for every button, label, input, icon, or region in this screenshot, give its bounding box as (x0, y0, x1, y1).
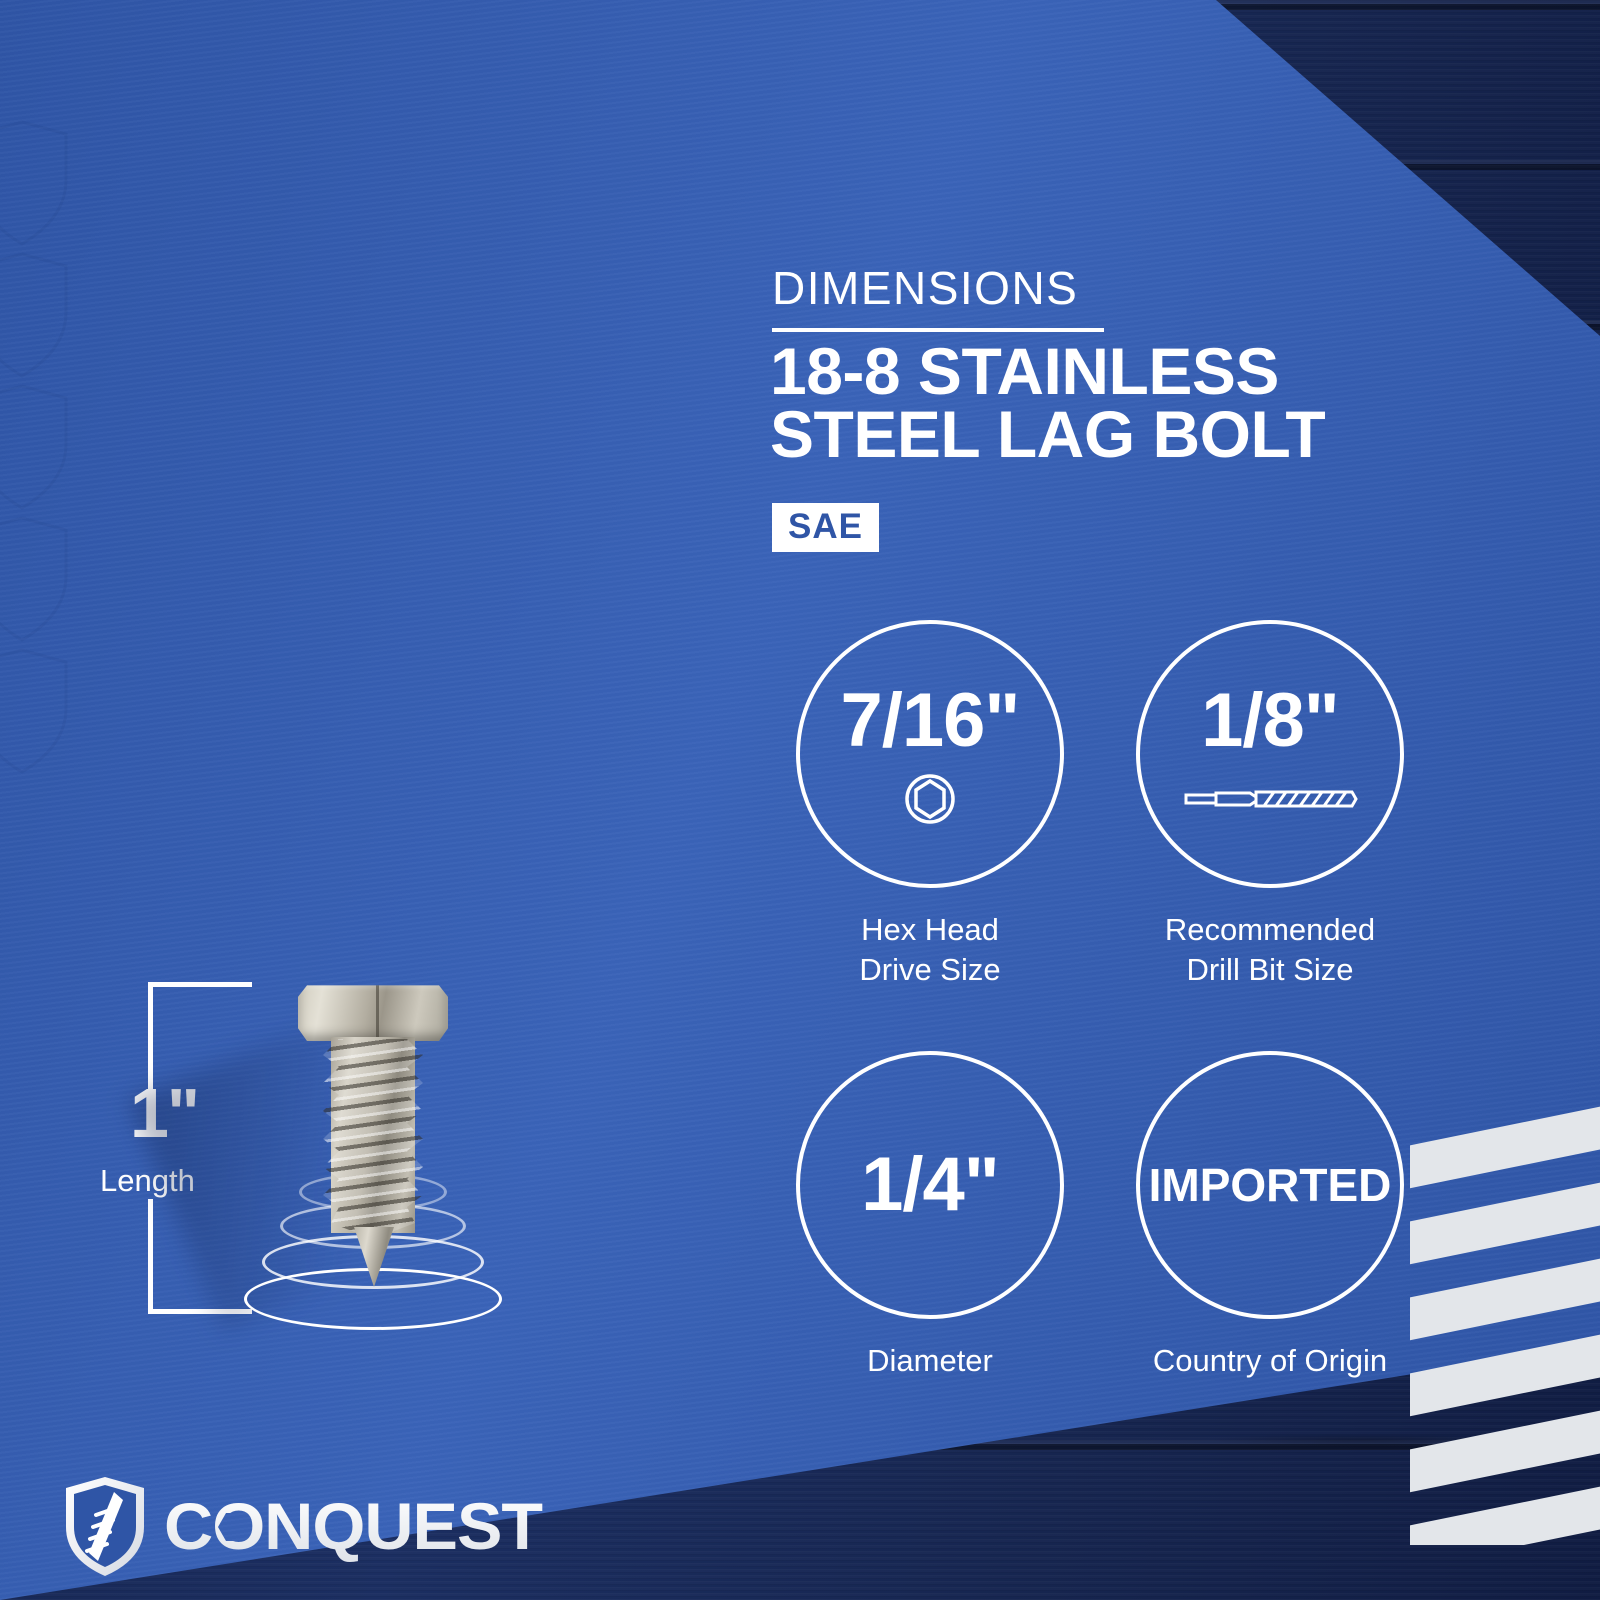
infographic-canvas: 1" Length DIMENSIONS 18-8 STAINLESS STEE… (0, 0, 1600, 1600)
spec-label-line: Drill Bit Size (1165, 950, 1375, 990)
bolt-threads (323, 1039, 423, 1239)
spec-label-line: Hex Head (859, 910, 1000, 950)
bracket-top-arm (148, 982, 252, 987)
shield-watermark-icon (0, 514, 70, 644)
spec-row: 1/4"DiameterIMPORTEDCountry of Origin (760, 1051, 1440, 1381)
spec-item: IMPORTEDCountry of Origin (1100, 1051, 1440, 1381)
spec-label-line: Drive Size (859, 950, 1000, 990)
spec-label: Country of Origin (1153, 1341, 1387, 1381)
bracket-bottom-stem (148, 1199, 153, 1314)
spec-label: Hex HeadDrive Size (859, 910, 1000, 989)
shield-watermark-icon (0, 646, 70, 776)
brand-name: CONQUEST (164, 1491, 546, 1563)
spec-label: Diameter (867, 1341, 993, 1381)
spec-row-gap (760, 989, 1440, 1051)
spec-label: RecommendedDrill Bit Size (1165, 910, 1375, 989)
svg-text:CONQUEST: CONQUEST (164, 1491, 543, 1563)
page-title: 18-8 STAINLESS STEEL LAG BOLT (770, 340, 1410, 465)
spec-value: IMPORTED (1149, 1162, 1392, 1208)
lag-bolt-image (298, 983, 448, 1303)
spec-value: 7/16" (841, 683, 1020, 759)
shield-with-screw-icon (62, 1475, 148, 1579)
spec-label-line: Recommended (1165, 910, 1375, 950)
spec-item: 1/4"Diameter (760, 1051, 1100, 1381)
spec-circle: 1/4" (796, 1051, 1064, 1319)
shield-watermark-icon (0, 118, 70, 248)
hex-socket-icon (904, 773, 956, 825)
standard-badge: SAE (772, 503, 879, 552)
spec-value: 1/8" (1201, 683, 1339, 759)
bolt-illustration (240, 965, 530, 1345)
spec-circle: 1/8" (1136, 620, 1404, 888)
brand-logo: CONQUEST (62, 1475, 546, 1579)
eyebrow-label: DIMENSIONS (772, 265, 1078, 311)
bolt-hex-head (298, 983, 448, 1041)
spec-value: 1/4" (861, 1147, 999, 1223)
spec-label-line: Diameter (867, 1341, 993, 1381)
spec-item: 1/8"RecommendedDrill Bit Size (1100, 620, 1440, 989)
spec-grid: 7/16"Hex HeadDrive Size1/8"RecommendedDr… (760, 620, 1440, 1381)
shield-watermark-icon (0, 382, 70, 512)
spec-item: 7/16"Hex HeadDrive Size (760, 620, 1100, 989)
stripe (1410, 1405, 1600, 1494)
stripe (1410, 1481, 1600, 1545)
spec-row: 7/16"Hex HeadDrive Size1/8"RecommendedDr… (760, 620, 1440, 989)
bolt-tip (354, 1227, 394, 1287)
spec-circle: 7/16" (796, 620, 1064, 888)
spec-circle: IMPORTED (1136, 1051, 1404, 1319)
shield-watermark-icon (0, 250, 70, 380)
drill-bit-icon (1182, 773, 1358, 825)
spec-label-line: Country of Origin (1153, 1341, 1387, 1381)
title-divider (772, 328, 1104, 332)
